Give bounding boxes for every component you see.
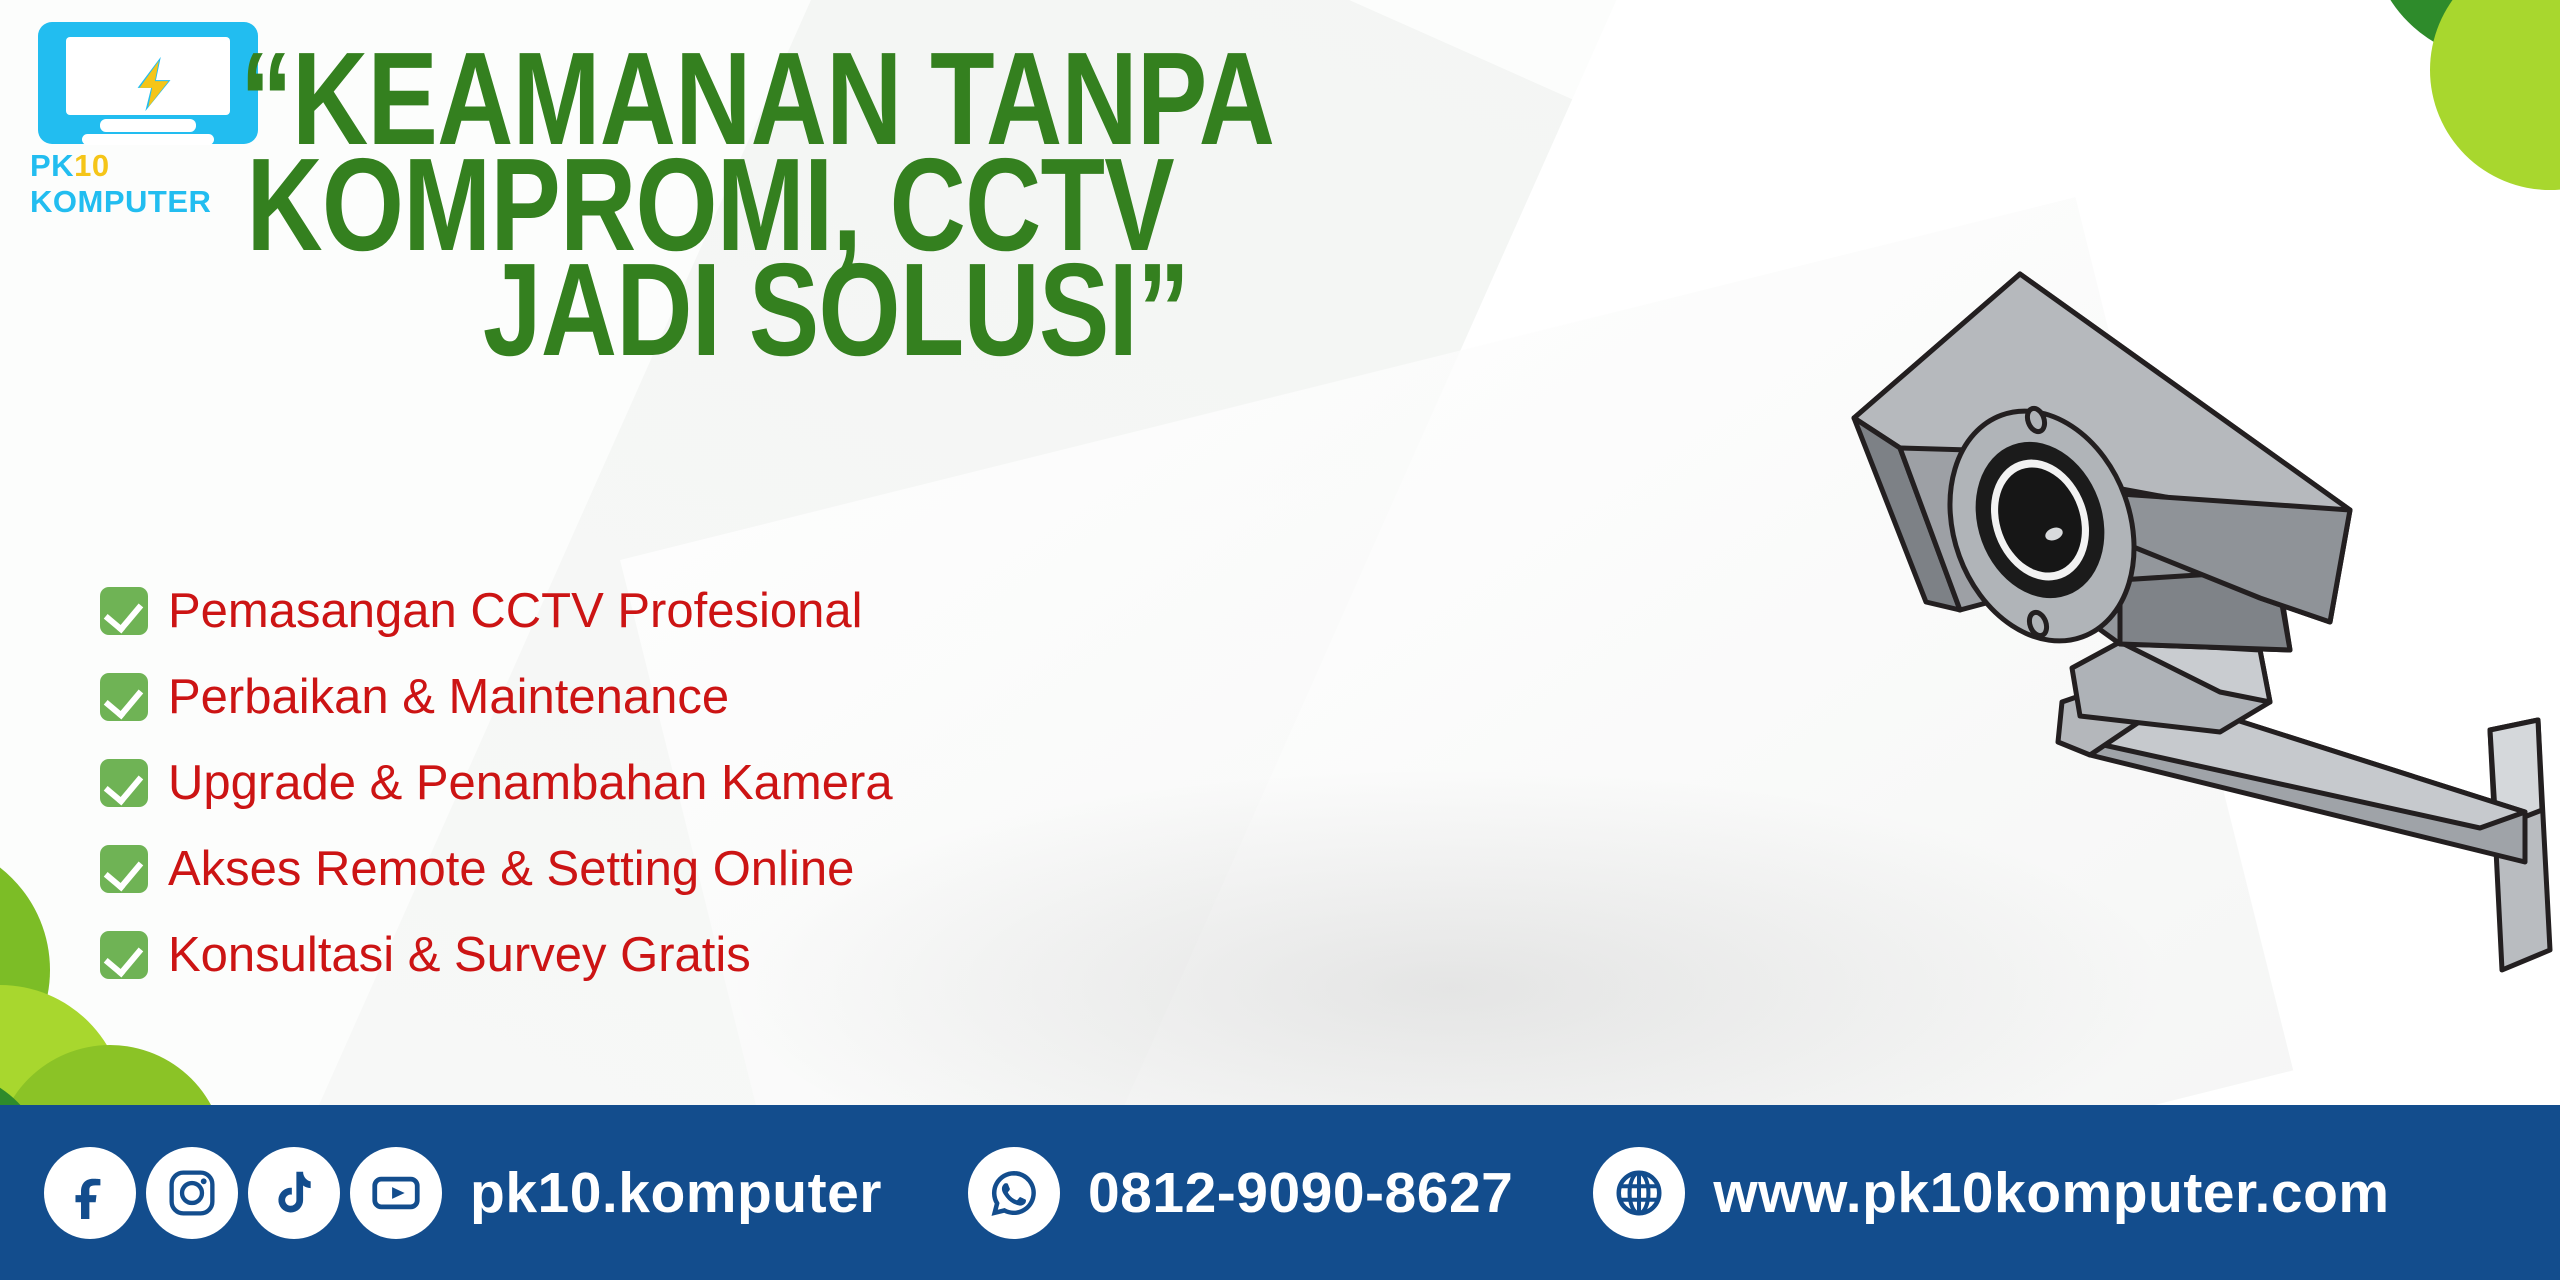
brand-name-part2: KOMPUTER [30,184,211,219]
social-links-group: pk10.komputer [44,1147,882,1239]
website-url[interactable]: www.pk10komputer.com [1713,1160,2389,1226]
headline: “KEAMANAN TANPA KOMPROMI, CCTV JADI SOLU… [240,46,1440,363]
phone-number[interactable]: 0812-9090-8627 [1088,1160,1513,1226]
website-group: www.pk10komputer.com [1593,1147,2389,1239]
whatsapp-group: 0812-9090-8627 [968,1147,1513,1239]
lightning-bolt-icon [126,55,184,113]
list-item-label: Konsultasi & Survey Gratis [168,931,751,980]
youtube-icon[interactable] [350,1147,442,1239]
monitor-stand-top [100,119,196,132]
list-item-label: Upgrade & Penambahan Kamera [168,759,893,808]
tiktok-icon[interactable] [248,1147,340,1239]
list-item: Upgrade & Penambahan Kamera [100,740,893,826]
check-mark-icon [100,931,148,979]
list-item: Akses Remote & Setting Online [100,826,893,912]
brand-name-part1: PK [30,148,74,183]
promo-banner: PK10 KOMPUTER “KEAMANAN TANPA KOMPROMI, … [0,0,2560,1280]
check-mark-icon [100,845,148,893]
check-mark-icon [100,759,148,807]
service-checklist: Pemasangan CCTV Profesional Perbaikan & … [100,568,893,998]
brand-name-ten: 10 [74,148,109,183]
check-mark-icon [100,587,148,635]
list-item-label: Pemasangan CCTV Profesional [168,587,863,636]
social-handle[interactable]: pk10.komputer [470,1160,882,1226]
list-item: Konsultasi & Survey Gratis [100,912,893,998]
monitor-icon [38,22,258,144]
check-mark-icon [100,673,148,721]
list-item-label: Perbaikan & Maintenance [168,673,729,722]
facebook-icon[interactable] [44,1147,136,1239]
whatsapp-icon[interactable] [968,1147,1060,1239]
contact-footer: pk10.komputer 0812-9090-8627 [0,1105,2560,1280]
instagram-icon[interactable] [146,1147,238,1239]
monitor-screen [66,37,230,115]
cctv-camera-illustration [1790,250,2560,1120]
list-item: Pemasangan CCTV Profesional [100,568,893,654]
list-item-label: Akses Remote & Setting Online [168,845,854,894]
monitor-stand-base [82,134,214,145]
globe-icon[interactable] [1593,1147,1685,1239]
list-item: Perbaikan & Maintenance [100,654,893,740]
